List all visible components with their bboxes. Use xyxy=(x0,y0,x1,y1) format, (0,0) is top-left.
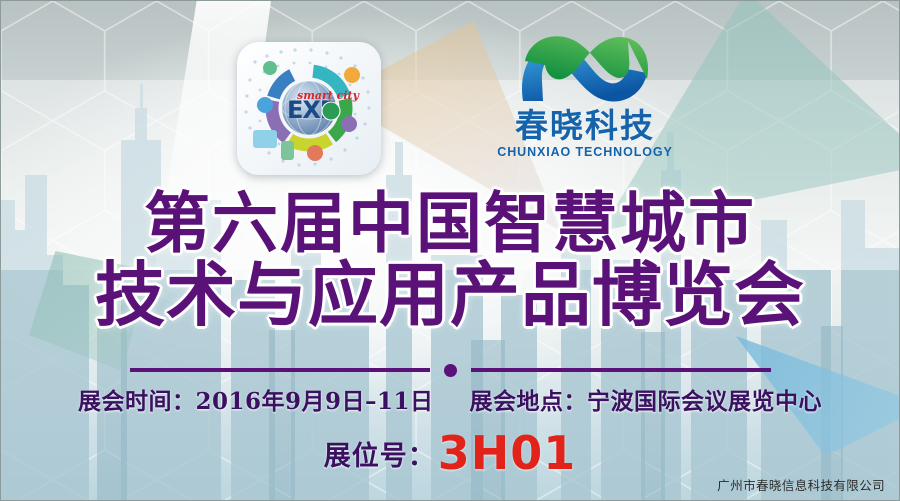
expo-logo-graphic: EXP smart city xyxy=(237,42,381,175)
footer-company: 广州市春晓信息科技有限公司 xyxy=(717,475,885,494)
poster-title: 第六届中国智慧城市 技术与应用产品博览会 xyxy=(1,187,899,331)
booth-value: 3H01 xyxy=(438,430,577,476)
divider-bar-right xyxy=(471,368,771,372)
smart-city-expo-logo: EXP smart city xyxy=(237,42,381,175)
event-venue: 展会地点：宁波国际会议展览中心 xyxy=(470,382,823,416)
booth-label: 展位号： xyxy=(324,434,436,473)
divider-bar-left xyxy=(130,368,430,372)
title-line-1: 第六届中国智慧城市 xyxy=(1,187,899,259)
title-line-2: 技术与应用产品博览会 xyxy=(1,259,899,331)
divider-dot xyxy=(444,364,457,377)
chunxiao-n-mark-icon xyxy=(501,29,669,107)
sponsor-logo: 春晓科技 CHUNXIAO TECHNOLOGY xyxy=(493,29,677,174)
title-divider xyxy=(1,363,899,377)
poster-banner: EXP smart city xyxy=(0,0,900,501)
booth-number-row: 展位号： 3H01 xyxy=(1,426,899,480)
svg-text:smart city: smart city xyxy=(297,89,361,102)
sponsor-name-en: CHUNXIAO TECHNOLOGY xyxy=(493,145,677,159)
sponsor-name-cn: 春晓科技 xyxy=(493,109,677,142)
event-info-row: 展会时间：2016年9月9日–11日 展会地点：宁波国际会议展览中心 xyxy=(1,382,899,416)
event-date: 展会时间：2016年9月9日–11日 xyxy=(78,382,434,416)
